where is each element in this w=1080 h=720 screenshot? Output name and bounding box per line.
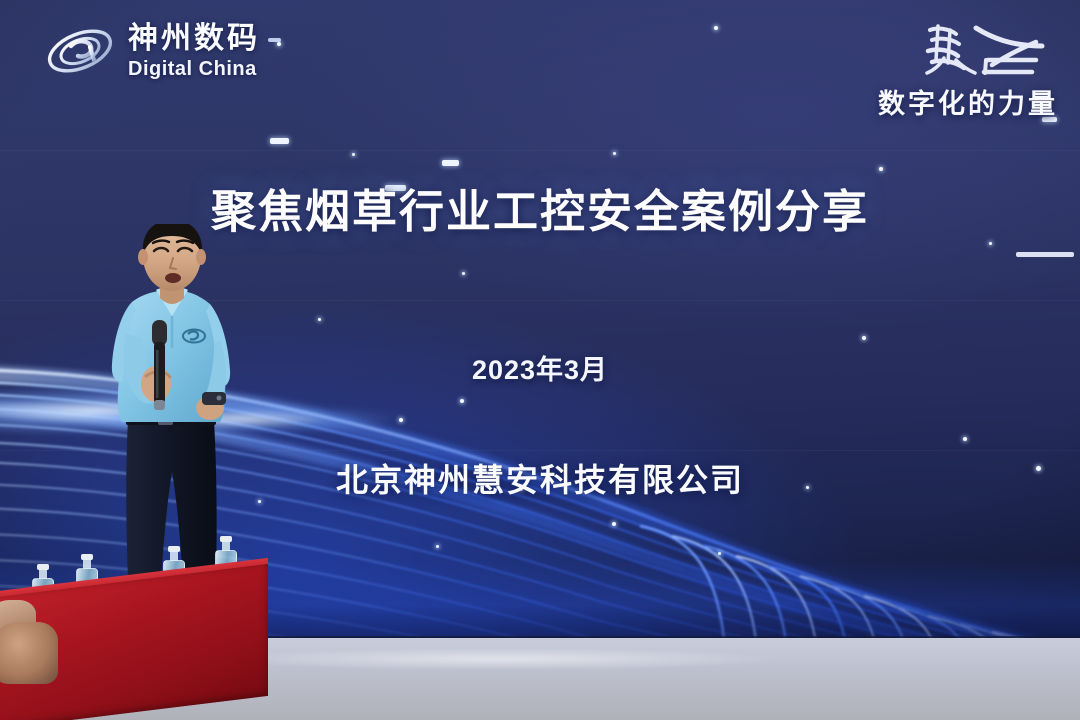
particle-dot — [879, 167, 883, 171]
title-dash-accent — [1016, 252, 1074, 257]
particle-dot — [399, 418, 403, 422]
spiral-swoosh-logo-icon — [44, 22, 116, 80]
particle-dot — [277, 42, 281, 46]
particle-dot — [714, 26, 718, 30]
handheld-microphone-icon — [152, 320, 167, 410]
presentation-clicker-icon — [202, 392, 226, 405]
particle-dot — [352, 153, 355, 156]
particle-dot — [989, 242, 992, 245]
particle-dot — [963, 437, 967, 441]
particle-dot — [612, 522, 616, 526]
brand-name-cn: 神州数码 — [128, 24, 260, 54]
brand-logo: 神州数码 Digital China — [44, 22, 260, 80]
slogan-calligraphy-icon — [808, 18, 1058, 82]
brand-name-en: Digital China — [128, 59, 260, 79]
particle-dot — [862, 336, 866, 340]
particle-dot — [613, 152, 616, 155]
conference-stage-photo: 神州数码 Digital China — [0, 0, 1080, 720]
seated-attendee — [0, 622, 58, 684]
particle-dot — [318, 318, 321, 321]
particle-dot — [462, 272, 465, 275]
particle-dot — [718, 552, 721, 555]
brand-dash-accent — [268, 38, 281, 42]
brand-wordmark: 神州数码 Digital China — [128, 24, 260, 79]
particle-dot — [460, 399, 464, 403]
slogan-subtitle: 数字化的力量 — [878, 89, 1058, 119]
particle-dash — [442, 160, 459, 166]
particle-dash — [270, 138, 289, 144]
event-slogan: 数字化的力量 — [808, 18, 1058, 121]
particle-dot — [436, 545, 439, 548]
